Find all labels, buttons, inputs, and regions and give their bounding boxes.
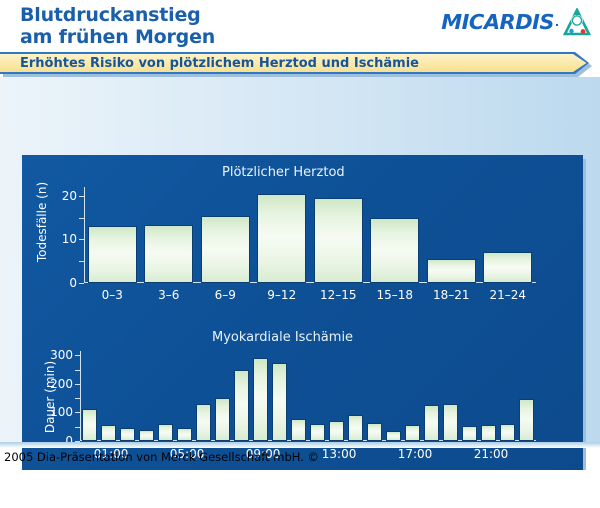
bar (88, 226, 137, 283)
y-tick-mark (75, 384, 80, 385)
bar (367, 423, 381, 441)
bar (500, 424, 514, 441)
bar-slot (232, 370, 251, 441)
charts-panel: Plötzlicher Herztod Todesfälle (n) 0–33–… (22, 155, 583, 470)
bar-slot (517, 399, 536, 441)
y-tick-mark (79, 218, 84, 219)
bar-slot (423, 259, 480, 283)
micardis-wordmark: MICARDIS (405, 10, 554, 34)
chart-2-plot-area: 01:0005:0009:0013:0017:0021:00 010020030… (80, 351, 536, 441)
bar (257, 194, 306, 283)
bar-slot (137, 430, 156, 441)
x-tick-spacer (432, 447, 446, 461)
bar (196, 404, 210, 441)
x-tick-spacer (356, 447, 370, 461)
y-tick-label: 200 (50, 378, 73, 390)
page-title-line-1: Blutdruckanstieg (20, 4, 400, 26)
bar-slot (422, 405, 441, 441)
x-tick-label: 0–3 (84, 288, 141, 302)
banner-label: Erhöhtes Risiko von plötzlichem Herztod … (20, 54, 419, 73)
footer-gradient-strip (0, 442, 600, 448)
bar-slot (327, 421, 346, 441)
bar-slot (80, 409, 99, 441)
bar (481, 425, 495, 441)
bar (348, 415, 362, 441)
x-tick-spacer (384, 447, 398, 461)
bar (139, 430, 153, 441)
y-tick-mark (79, 196, 84, 197)
slide-canvas: Blutdruckanstieg am frühen Morgen MICARD… (0, 0, 600, 470)
x-tick-label: 13:00 (322, 447, 357, 461)
bar-slot (403, 425, 422, 441)
x-tick-spacer (522, 447, 536, 461)
bar (158, 424, 172, 441)
bar-slot (367, 218, 424, 283)
bar (424, 405, 438, 441)
bar (144, 225, 193, 283)
bar-slot (213, 398, 232, 441)
bar-slot (479, 425, 498, 441)
bar (462, 426, 476, 441)
x-tick-label: 9–12 (254, 288, 311, 302)
y-tick-mark (75, 355, 80, 356)
chart-2-y-axis-label: Dauer (min) (43, 352, 57, 442)
y-tick-label: 20 (62, 190, 77, 202)
bar (386, 431, 400, 441)
y-tick-mark (75, 412, 80, 413)
bar-slot (197, 216, 254, 283)
chart-1-title: Plötzlicher Herztod (222, 165, 345, 180)
x-tick-spacer (460, 447, 474, 461)
x-tick-spacer (370, 447, 384, 461)
y-tick-mark (79, 261, 84, 262)
bar-slot (99, 425, 118, 441)
x-tick-label: 21:00 (474, 447, 509, 461)
bar-slot (346, 415, 365, 441)
bar (310, 424, 324, 441)
copyright-footer: 2005 Dia-Präsentation von Merck Gesellsc… (4, 450, 319, 464)
logo-dot (556, 24, 558, 26)
bar-slot (308, 424, 327, 441)
bar-slot (441, 404, 460, 441)
bar (253, 358, 267, 441)
x-tick-label: 17:00 (398, 447, 433, 461)
page-title: Blutdruckanstieg am frühen Morgen (20, 4, 400, 48)
bar (177, 428, 191, 441)
bar (120, 428, 134, 441)
bar (272, 363, 286, 441)
slide-header: Blutdruckanstieg am frühen Morgen MICARD… (0, 0, 600, 52)
bar (370, 218, 419, 283)
y-tick-mark (75, 370, 80, 371)
bar (201, 216, 250, 283)
triangle-knot-logo-icon (562, 8, 592, 38)
bar-slot (251, 358, 270, 441)
chart-1-y-axis-label: Todesfälle (n) (35, 167, 49, 277)
bar (82, 409, 96, 441)
y-tick-label: 300 (50, 349, 73, 361)
x-tick-label: 18–21 (423, 288, 480, 302)
bar-slot (141, 225, 198, 283)
bar-slot (480, 252, 537, 283)
bar (234, 370, 248, 441)
x-tick-spacer (508, 447, 522, 461)
bar (443, 404, 457, 441)
x-tick-label: 12–15 (310, 288, 367, 302)
micardis-logo: MICARDIS (412, 8, 592, 44)
y-tick-mark (79, 239, 84, 240)
bar-slot (270, 363, 289, 441)
bar (314, 198, 363, 283)
y-tick-mark (79, 283, 84, 284)
y-tick-mark (75, 398, 80, 399)
x-tick-spacer (446, 447, 460, 461)
bar-slot (289, 419, 308, 441)
bar-slot (384, 431, 403, 441)
bar-slot (194, 404, 213, 441)
bar (405, 425, 419, 441)
chart-2-bars (80, 351, 536, 441)
bar-slot (254, 194, 311, 283)
x-tick-label: 3–6 (141, 288, 198, 302)
bar (215, 398, 229, 441)
x-tick-label: 6–9 (197, 288, 254, 302)
x-tick-label: 15–18 (367, 288, 424, 302)
subtitle-banner: Erhöhtes Risiko von plötzlichem Herztod … (0, 52, 600, 77)
chart-1-x-ticklabels: 0–33–66–99–1212–1515–1818–2121–24 (84, 288, 536, 302)
content-backdrop: Plötzlicher Herztod Todesfälle (n) 0–33–… (0, 77, 600, 442)
bar (101, 425, 115, 441)
y-tick-label: 10 (62, 233, 77, 245)
y-tick-label: 100 (50, 406, 73, 418)
y-tick-mark (75, 427, 80, 428)
x-tick-label: 21–24 (480, 288, 537, 302)
bar (291, 419, 305, 441)
bar-slot (175, 428, 194, 441)
bar-slot (156, 424, 175, 441)
bar (329, 421, 343, 441)
y-tick-label: 0 (69, 277, 77, 289)
bar-slot (460, 426, 479, 441)
chart-1-bars (84, 187, 536, 283)
chart-1-plot-area: 0–33–66–99–1212–1515–1818–2121–24 01020 (84, 187, 536, 283)
bar-slot (365, 423, 384, 441)
bar-slot (310, 198, 367, 283)
chart-2-title: Myokardiale Ischämie (212, 330, 353, 345)
page-title-line-2: am frühen Morgen (20, 26, 400, 48)
bar-slot (118, 428, 137, 441)
bar-slot (84, 226, 141, 283)
bar (483, 252, 532, 283)
bar-slot (498, 424, 517, 441)
bar (427, 259, 476, 283)
bar (519, 399, 533, 441)
